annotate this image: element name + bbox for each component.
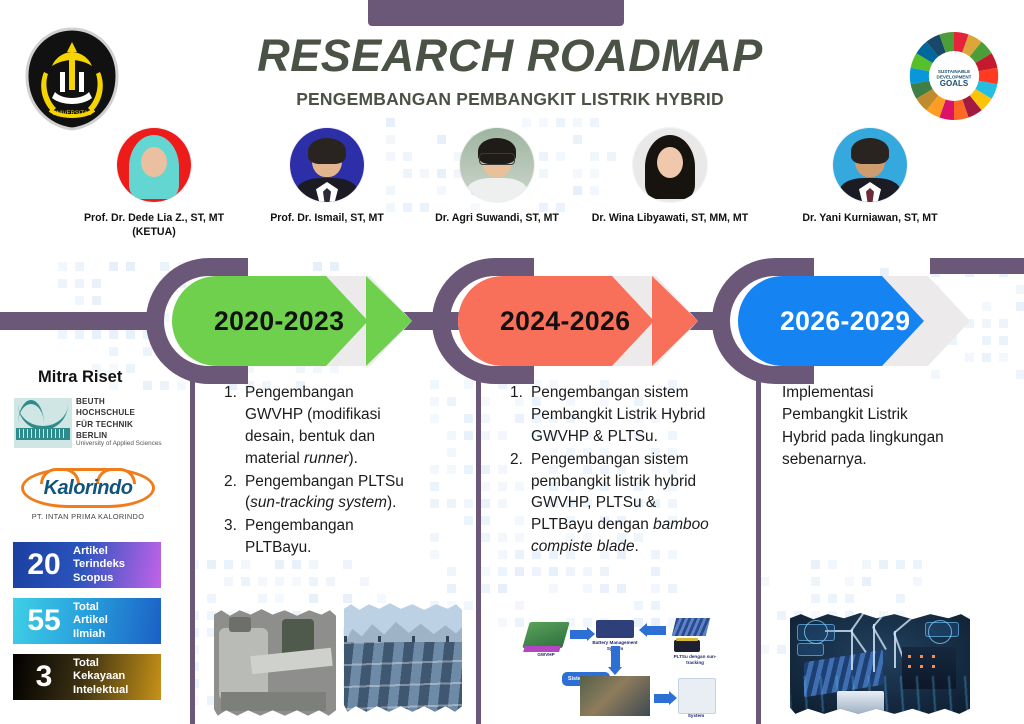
- universitas-pancasila-logo-icon: UNIVERSITAS: [22, 26, 122, 132]
- metric-scopus: 20 ArtikelTerindeksScopus: [13, 542, 161, 588]
- divider-line-3: [756, 378, 761, 724]
- avatar: [290, 128, 364, 202]
- stage-1[interactable]: 2020-2023: [172, 276, 412, 366]
- poster-root: UNIVERSITAS: [0, 0, 1024, 724]
- metric-label: TotalArtikelIlmiah: [73, 601, 108, 641]
- mitra-riset-heading: Mitra Riset: [38, 368, 122, 387]
- smart-energy-illustration: [790, 612, 970, 716]
- team-member-name: Dr. Agri Suwandi, ST, MT: [413, 211, 581, 225]
- stage-1-years: 2020-2023: [172, 306, 344, 337]
- team-member-name: Dr. Yani Kurniawan, ST, MT: [786, 211, 954, 225]
- header-titles: RESEARCH ROADMAP PENGEMBANGAN PEMBANGKIT…: [190, 32, 830, 110]
- team-member-name: Prof. Dr. Dede Lia Z., ST, MT (KETUA): [70, 211, 238, 240]
- stage-2-years: 2024-2026: [458, 306, 630, 337]
- track-bar-left: [0, 312, 160, 330]
- stage-2-arrow: 2024-2026: [458, 276, 654, 366]
- diagram-label-pltsu: PLTSu dengan sun-tracking: [670, 654, 720, 665]
- solar-farm-photo: [344, 602, 462, 714]
- stage-2-content: Pengembangan sistem Pembangkit Listrik H…: [510, 382, 710, 559]
- stage-2[interactable]: 2024-2026: [458, 276, 698, 366]
- svg-text:SUSTAINABLE: SUSTAINABLE: [938, 69, 970, 74]
- stage-3-years: 2026-2029: [738, 306, 910, 337]
- metric-number: 55: [13, 606, 73, 636]
- avatar: [460, 128, 534, 202]
- turbine-workshop-photo: [214, 608, 336, 718]
- avatar: [633, 128, 707, 202]
- beuth-tagline: University of Applied Sciences: [76, 440, 162, 447]
- stage-3-paragraph: Implementasi Pembangkit Listrik Hybrid p…: [782, 382, 948, 471]
- metric-number: 20: [13, 550, 73, 580]
- avatar: [833, 128, 907, 202]
- stage-3-content: Implementasi Pembangkit Listrik Hybrid p…: [782, 382, 948, 471]
- list-item: Pengembangan PLTBayu.: [224, 515, 414, 559]
- metric-label: ArtikelTerindeksScopus: [73, 545, 125, 585]
- metric-label: TotalKekayaanIntelektual: [73, 657, 128, 697]
- team-row: Prof. Dr. Dede Lia Z., ST, MT (KETUA) Pr…: [0, 128, 1024, 246]
- svg-text:UNIVERSITAS: UNIVERSITAS: [52, 111, 92, 117]
- hybrid-system-diagram: GWVHP Battery Management System PLTSu de…: [524, 616, 724, 720]
- beuth-line2: FÜR TECHNIK: [76, 420, 133, 429]
- stage-3[interactable]: 2026-2029: [738, 276, 970, 366]
- metric-articles: 55 TotalArtikelIlmiah: [13, 598, 161, 644]
- divider-line-2: [476, 378, 481, 724]
- metric-ip: 3 TotalKekayaanIntelektual: [13, 654, 161, 700]
- list-item: Pengembangan sistem Pembangkit Listrik H…: [510, 382, 710, 448]
- diagram-label-gwvhp: GWVHP: [524, 652, 568, 658]
- stage-2-chevron: [652, 276, 698, 366]
- list-item: Pengembangan GWVHP (modifikasi desain, b…: [224, 382, 414, 470]
- page-subtitle: PENGEMBANGAN PEMBANGKIT LISTRIK HYBRID: [190, 89, 830, 110]
- list-item: Pengembangan PLTSu (sun-tracking system)…: [224, 471, 414, 515]
- list-item: Pengembangan sistem pembangkit listrik h…: [510, 449, 710, 558]
- team-member: Dr. Yani Kurniawan, ST, MT: [786, 128, 954, 225]
- diagram-label-output: System: [676, 713, 716, 719]
- beuth-hochschule-logo-icon: BEUTH HOCHSCHULE FÜR TECHNIK BERLIN Univ…: [14, 396, 162, 452]
- metric-number: 3: [13, 662, 73, 692]
- team-member: Dr. Agri Suwandi, ST, MT: [413, 128, 581, 225]
- kalorindo-wordmark: Kalorindo: [44, 477, 133, 500]
- stage-1-chevron: [366, 276, 412, 366]
- kalorindo-logo-icon: Kalorindo PT. INTAN PRIMA KALORINDO: [14, 468, 162, 524]
- divider-line-1: [190, 378, 195, 724]
- avatar: [117, 128, 191, 202]
- svg-text:GOALS: GOALS: [940, 79, 969, 88]
- stage-1-content: Pengembangan GWVHP (modifikasi desain, b…: [224, 382, 414, 560]
- top-accent-tab: [368, 0, 624, 26]
- team-member: Prof. Dr. Ismail, ST, MT: [243, 128, 411, 225]
- team-member: Dr. Wina Libyawati, ST, MM, MT: [586, 128, 754, 225]
- sdg-wheel-logo-icon: SUSTAINABLE DEVELOPMENT GOALS: [906, 28, 1002, 124]
- team-member: Prof. Dr. Dede Lia Z., ST, MT (KETUA): [70, 128, 238, 240]
- track-bar-right: [930, 258, 1024, 274]
- team-member-name: Prof. Dr. Ismail, ST, MT: [243, 211, 411, 225]
- kalorindo-caption: PT. INTAN PRIMA KALORINDO: [14, 512, 162, 521]
- team-member-name: Dr. Wina Libyawati, ST, MM, MT: [586, 211, 754, 225]
- page-title: RESEARCH ROADMAP: [190, 32, 830, 79]
- beuth-line1: BEUTH HOCHSCHULE: [76, 397, 135, 417]
